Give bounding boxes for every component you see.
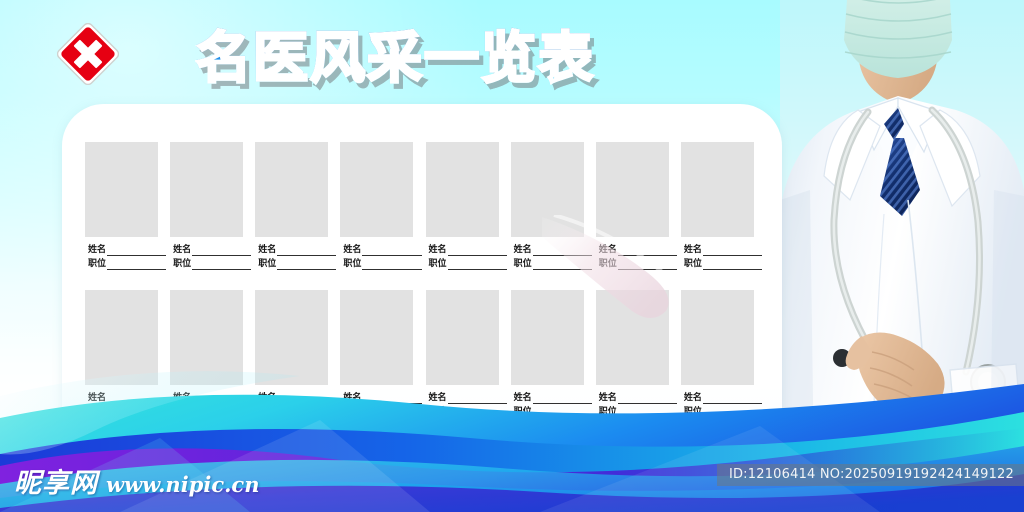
name-label: 姓名 — [514, 244, 532, 256]
cell-fields: 姓名 职位 — [84, 244, 166, 270]
position-field[interactable]: 职位 — [88, 258, 166, 270]
medical-cross-icon — [57, 23, 119, 85]
position-input-line[interactable] — [533, 260, 592, 270]
position-label: 职位 — [684, 258, 702, 270]
name-label: 姓名 — [88, 244, 106, 256]
position-field[interactable]: 职位 — [258, 258, 336, 270]
name-field[interactable]: 姓名 — [599, 244, 677, 256]
roster-cell[interactable]: 姓名 职位 — [510, 142, 592, 272]
roster-cell[interactable]: 姓名 职位 — [595, 142, 677, 272]
photo-placeholder[interactable] — [340, 142, 413, 237]
position-field[interactable]: 职位 — [173, 258, 251, 270]
medical-cross-logo — [57, 23, 119, 85]
position-field[interactable]: 职位 — [599, 258, 677, 270]
name-field[interactable]: 姓名 — [514, 244, 592, 256]
photo-placeholder[interactable] — [681, 142, 754, 237]
photo-placeholder[interactable] — [426, 142, 499, 237]
cell-fields: 姓名 职位 — [339, 244, 421, 270]
photo-placeholder[interactable] — [170, 142, 243, 237]
photo-placeholder[interactable] — [511, 142, 584, 237]
cell-fields: 姓名 职位 — [425, 244, 507, 270]
name-field[interactable]: 姓名 — [429, 244, 507, 256]
roster-row: 姓名 职位 姓名 — [84, 142, 762, 272]
position-field[interactable]: 职位 — [514, 258, 592, 270]
page-title: 名医风采一览表 — [196, 22, 636, 94]
position-field[interactable]: 职位 — [684, 258, 762, 270]
cell-fields: 姓名 职位 — [680, 244, 762, 270]
position-label: 职位 — [429, 258, 447, 270]
position-input-line[interactable] — [703, 260, 762, 270]
roster-cell[interactable]: 姓名 职位 — [425, 142, 507, 272]
name-label: 姓名 — [684, 244, 702, 256]
name-field[interactable]: 姓名 — [684, 244, 762, 256]
position-field[interactable]: 职位 — [343, 258, 421, 270]
cell-fields: 姓名 职位 — [254, 244, 336, 270]
name-input-line[interactable] — [192, 246, 251, 256]
position-label: 职位 — [514, 258, 532, 270]
name-label: 姓名 — [258, 244, 276, 256]
position-label: 职位 — [173, 258, 191, 270]
name-input-line[interactable] — [362, 246, 421, 256]
poster-canvas: 名医风采一览表 — [0, 0, 1024, 512]
name-label: 姓名 — [173, 244, 191, 256]
name-input-line[interactable] — [448, 246, 507, 256]
name-input-line[interactable] — [618, 246, 677, 256]
bottom-wave-graphic — [0, 342, 1024, 512]
roster-cell[interactable]: 姓名 职位 — [254, 142, 336, 272]
name-field[interactable]: 姓名 — [343, 244, 421, 256]
name-field[interactable]: 姓名 — [173, 244, 251, 256]
photo-placeholder[interactable] — [255, 142, 328, 237]
roster-cell[interactable]: 姓名 职位 — [169, 142, 251, 272]
roster-cell[interactable]: 姓名 职位 — [680, 142, 762, 272]
name-input-line[interactable] — [277, 246, 336, 256]
position-field[interactable]: 职位 — [429, 258, 507, 270]
name-label: 姓名 — [343, 244, 361, 256]
position-input-line[interactable] — [618, 260, 677, 270]
name-input-line[interactable] — [107, 246, 166, 256]
cell-fields: 姓名 职位 — [510, 244, 592, 270]
position-input-line[interactable] — [362, 260, 421, 270]
cell-fields: 姓名 职位 — [169, 244, 251, 270]
name-field[interactable]: 姓名 — [88, 244, 166, 256]
name-input-line[interactable] — [703, 246, 762, 256]
position-input-line[interactable] — [448, 260, 507, 270]
name-label: 姓名 — [599, 244, 617, 256]
position-input-line[interactable] — [192, 260, 251, 270]
roster-cell[interactable]: 姓名 职位 — [339, 142, 421, 272]
name-input-line[interactable] — [533, 246, 592, 256]
position-label: 职位 — [599, 258, 617, 270]
image-id-strip: ID:12106414 NO:20250919192424149122 — [717, 464, 1024, 486]
position-input-line[interactable] — [277, 260, 336, 270]
name-label: 姓名 — [429, 244, 447, 256]
roster-cell[interactable]: 姓名 职位 — [84, 142, 166, 272]
wave-shapes-icon — [0, 342, 1024, 512]
cell-fields: 姓名 职位 — [595, 244, 677, 270]
name-field[interactable]: 姓名 — [258, 244, 336, 256]
position-label: 职位 — [343, 258, 361, 270]
position-label: 职位 — [88, 258, 106, 270]
position-input-line[interactable] — [107, 260, 166, 270]
photo-placeholder[interactable] — [85, 142, 158, 237]
position-label: 职位 — [258, 258, 276, 270]
photo-placeholder[interactable] — [596, 142, 669, 237]
